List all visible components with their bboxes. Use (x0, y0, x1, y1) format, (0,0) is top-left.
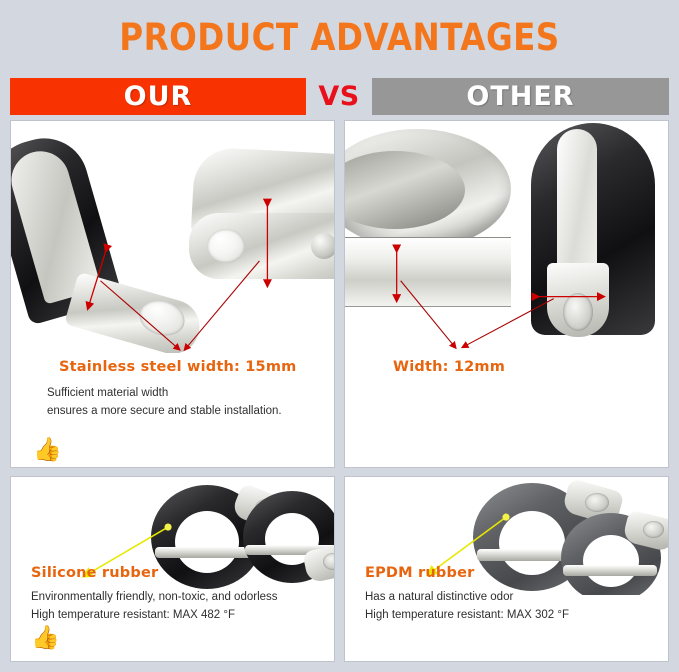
epdm-headline: EPDM rubber (365, 565, 474, 581)
our-width-photo (11, 121, 334, 353)
clamp-tab-hole (585, 493, 609, 512)
thumbs-up-icon: 👍 (31, 627, 60, 650)
competitor-clamp-photo (523, 123, 659, 348)
other-header-bar: OTHER (372, 78, 669, 115)
silicone-clamp-rear (243, 491, 334, 591)
silicone-desc-line1: Environmentally friendly, non-toxic, and… (31, 589, 278, 606)
clamp-band-closeup (345, 237, 511, 307)
clamp-tab-hole (563, 293, 593, 331)
card-epdm-rubber: EPDM rubber Has a natural distinctive od… (344, 476, 669, 662)
clamp-ring-inner (345, 151, 465, 229)
card-our-width: Stainless steel width: 15mm Sufficient m… (10, 120, 335, 468)
other-width-photo (345, 121, 668, 353)
card-silicone-rubber: Silicone rubber Environmentally friendly… (10, 476, 335, 662)
thumbs-up-icon: 👍 (33, 439, 62, 462)
our-header-bar: OUR (10, 78, 306, 115)
card-other-width: Width: 12mm (344, 120, 669, 468)
our-width-desc-line2: ensures a more secure and stable install… (47, 403, 282, 420)
clamp-tab-hole (643, 521, 664, 538)
silicone-desc-line2: High temperature resistant: MAX 482 °F (31, 607, 235, 624)
epdm-desc-line2: High temperature resistant: MAX 302 °F (365, 607, 569, 624)
clamp-bore (583, 535, 639, 587)
other-width-headline: Width: 12mm (393, 359, 505, 375)
our-width-desc-line1: Sufficient material width (47, 385, 168, 402)
our-width-headline: Stainless steel width: 15mm (59, 359, 296, 375)
clamp-ring-closeup (345, 129, 511, 249)
clamp-rivet (311, 233, 334, 259)
steel-band (563, 565, 657, 576)
silicone-headline: Silicone rubber (31, 565, 158, 581)
clamp-bore (175, 511, 239, 573)
vs-badge: VS (306, 81, 372, 112)
page-title: PRODUCT ADVANTAGES (41, 16, 639, 59)
clamp-bore (499, 511, 565, 575)
epdm-clamp-rear (561, 513, 667, 595)
epdm-desc-line1: Has a natural distinctive odor (365, 589, 513, 606)
clamp-bar-hole (207, 229, 245, 263)
comparison-header-row: OUR VS OTHER (10, 76, 669, 116)
